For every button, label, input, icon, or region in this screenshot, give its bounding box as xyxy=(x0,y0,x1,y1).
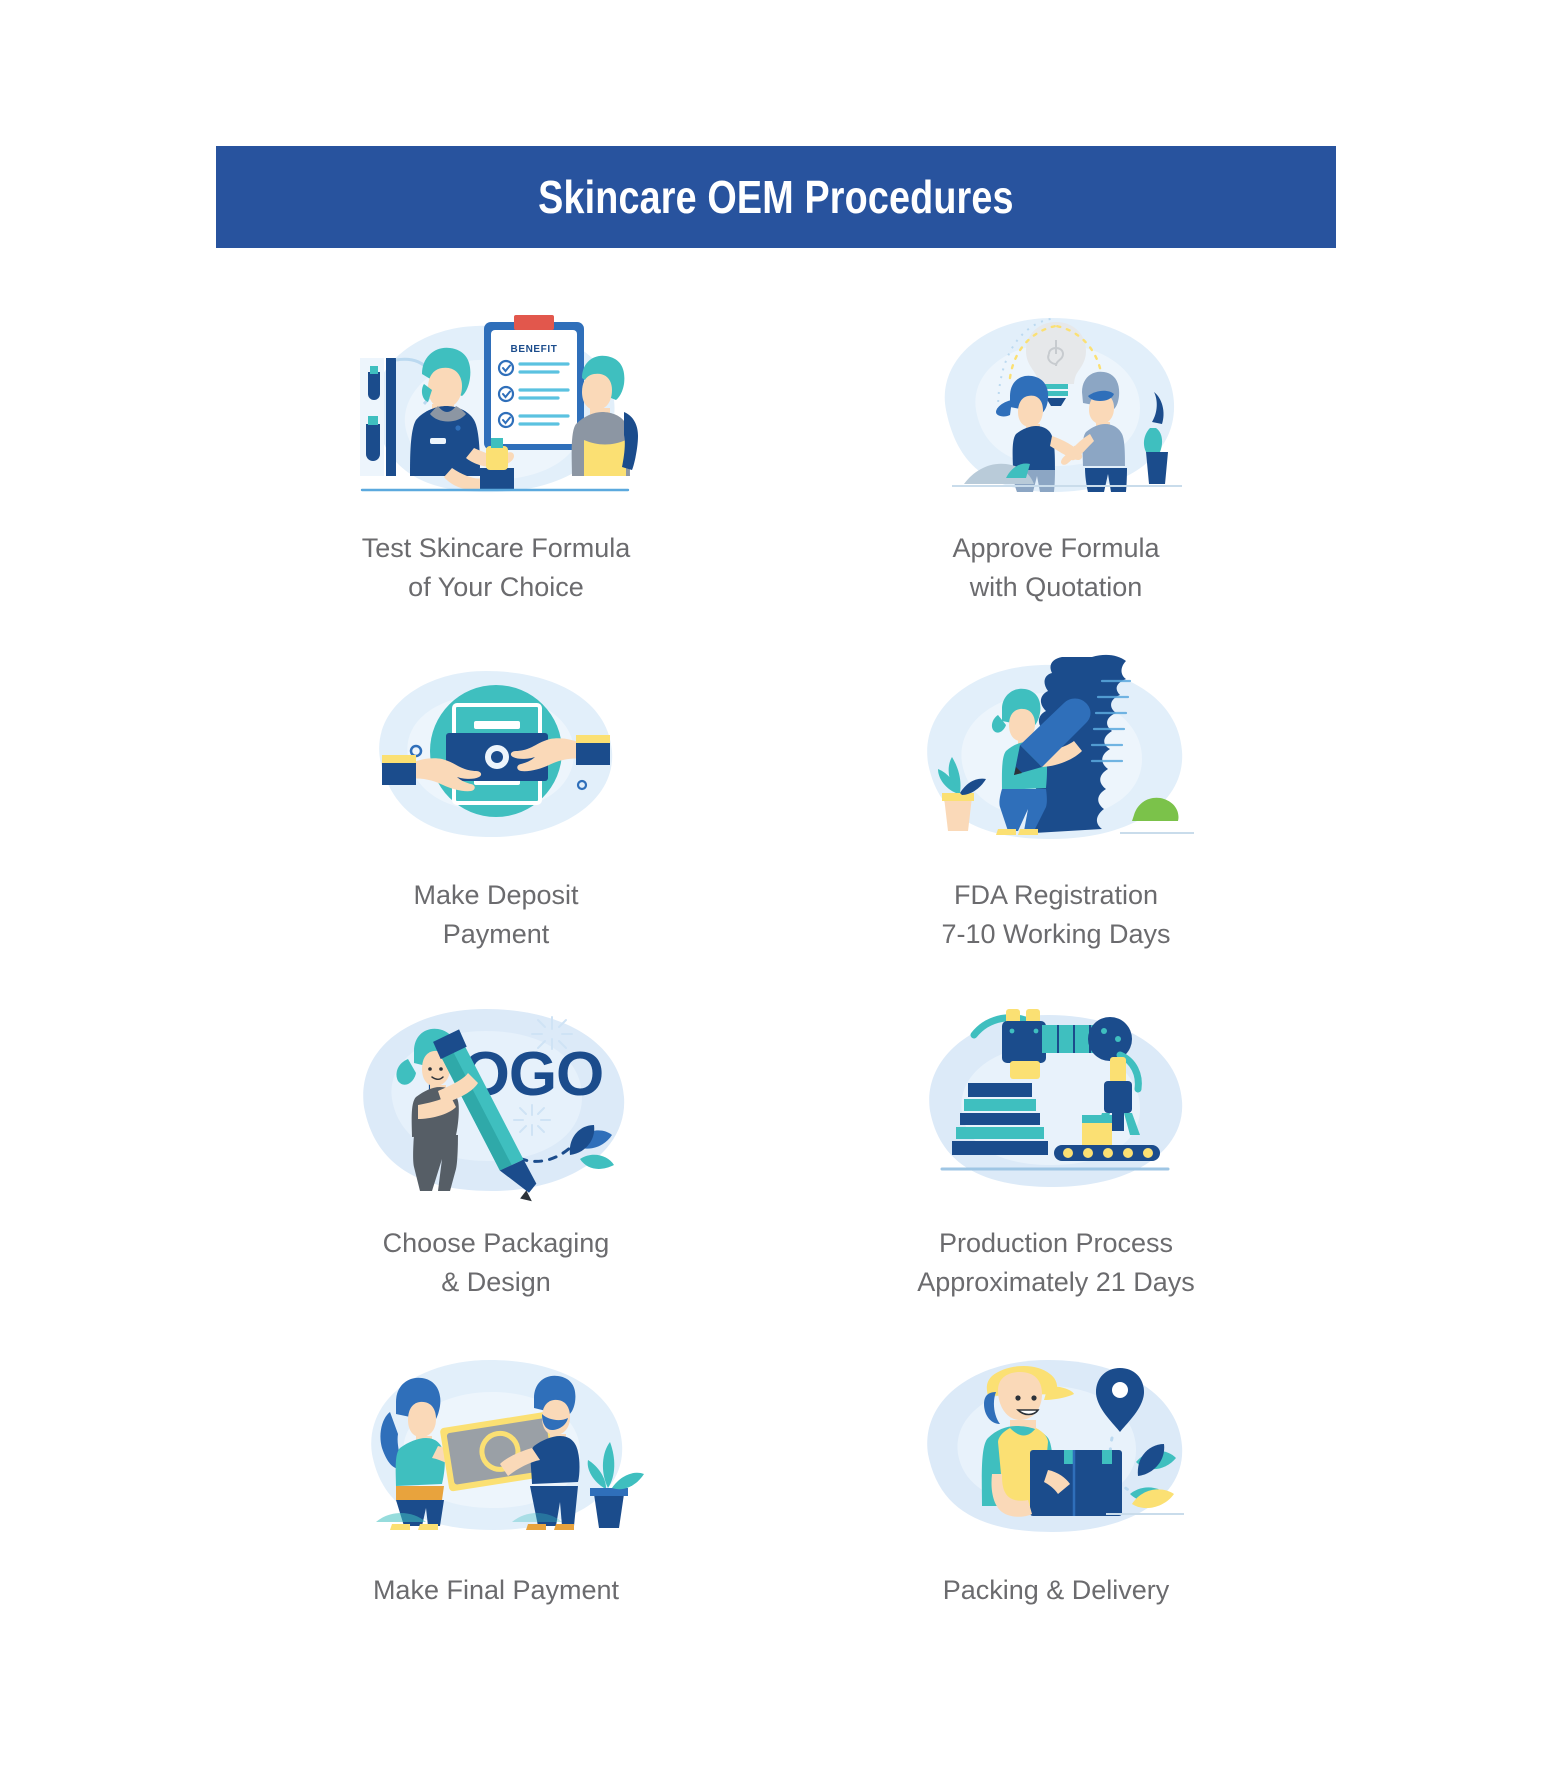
step-caption-7: Make Final Payment xyxy=(373,1571,619,1610)
step-card-4: FDA Registration 7-10 Working Days xyxy=(776,647,1336,954)
step-caption-3: Make Deposit Payment xyxy=(413,876,578,954)
illustration-packing-delivery xyxy=(906,1342,1206,1557)
step-card-7: Make Final Payment xyxy=(216,1342,776,1610)
step-card-3: Make Deposit Payment xyxy=(216,647,776,954)
step-caption-2: Approve Formula with Quotation xyxy=(952,529,1159,607)
step-caption-1: Test Skincare Formula of Your Choice xyxy=(362,529,631,607)
step-card-8: Packing & Delivery xyxy=(776,1342,1336,1610)
step-caption-5: Choose Packaging & Design xyxy=(383,1224,610,1302)
step-card-6: Production Process Approximately 21 Days xyxy=(776,995,1336,1302)
illustration-production-process xyxy=(906,995,1206,1210)
step-card-1: BENEFIT xyxy=(216,300,776,607)
step-caption-8: Packing & Delivery xyxy=(943,1571,1170,1610)
illustration-choose-packaging-design: LOGO xyxy=(346,995,646,1210)
page-header-banner: Skincare OEM Procedures xyxy=(216,146,1336,248)
page-title: Skincare OEM Procedures xyxy=(538,170,1013,224)
illustration-test-skincare-formula: BENEFIT xyxy=(346,300,646,515)
infographic-page: Skincare OEM Procedures xyxy=(0,0,1557,1782)
illustration-approve-formula xyxy=(906,300,1206,515)
svg-text:BENEFIT: BENEFIT xyxy=(511,344,558,355)
step-caption-6: Production Process Approximately 21 Days xyxy=(917,1224,1195,1302)
illustration-make-deposit-payment xyxy=(346,647,646,862)
step-caption-4: FDA Registration 7-10 Working Days xyxy=(941,876,1170,954)
step-card-5: LOGO xyxy=(216,995,776,1302)
illustration-fda-registration xyxy=(906,647,1206,862)
step-card-2: Approve Formula with Quotation xyxy=(776,300,1336,607)
steps-grid: BENEFIT xyxy=(216,300,1336,1610)
illustration-make-final-payment xyxy=(346,1342,646,1557)
